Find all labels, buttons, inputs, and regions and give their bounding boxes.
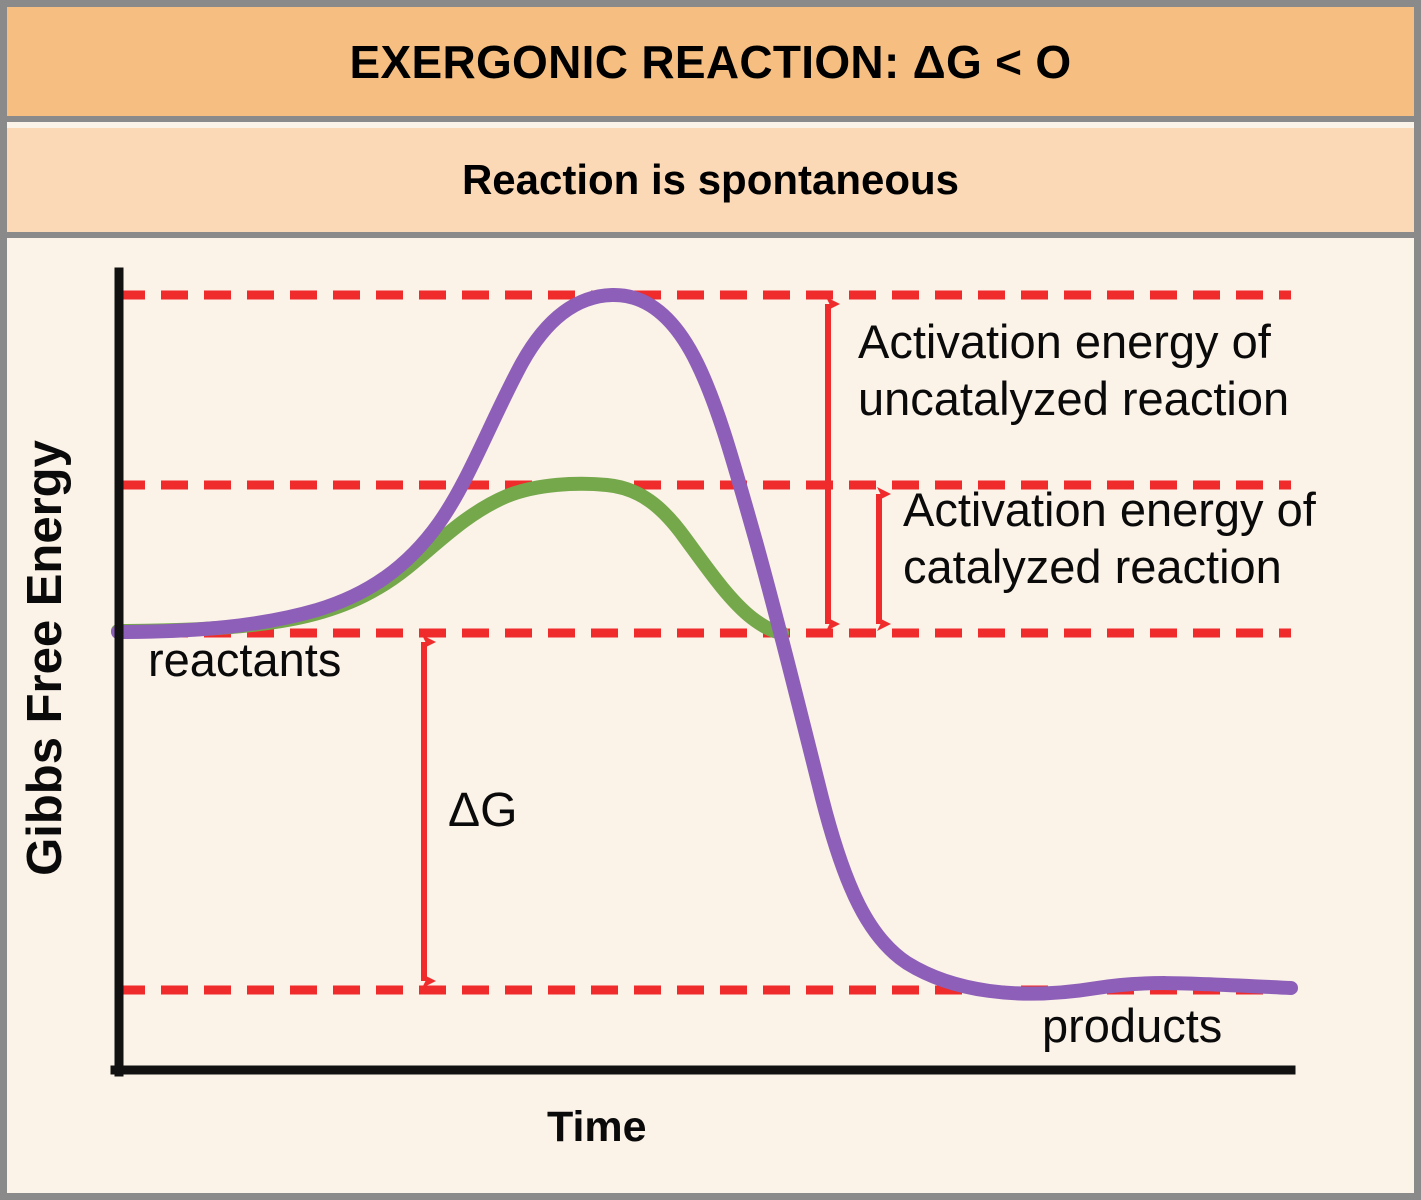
- x-axis-title: Time: [547, 1103, 647, 1152]
- frame-top-border: [0, 0, 1421, 7]
- reactants-label: reactants: [148, 632, 341, 687]
- frame-left-border: [0, 0, 7, 1200]
- frame-right-border: [1414, 0, 1421, 1200]
- annotation-activation-energy-uncatalyzed: Activation energy of uncatalyzed reactio…: [858, 313, 1403, 428]
- delta-g-label: ΔG: [448, 783, 517, 838]
- energy-diagram-plot: Gibbs Free Energy Time reactants product…: [7, 238, 1414, 1193]
- frame-bottom-border: [0, 1193, 1421, 1200]
- title-band: EXERGONIC REACTION: ΔG < O: [7, 7, 1414, 122]
- annotation-activation-energy-catalyzed: Activation energy of catalyzed reaction: [903, 481, 1413, 596]
- page-subtitle: Reaction is spontaneous: [462, 156, 959, 204]
- exergonic-reaction-figure: EXERGONIC REACTION: ΔG < O Reaction is s…: [0, 0, 1421, 1200]
- page-title: EXERGONIC REACTION: ΔG < O: [350, 35, 1072, 89]
- subtitle-band: Reaction is spontaneous: [7, 128, 1414, 238]
- annotation-arrows: [424, 304, 879, 981]
- products-label: products: [1042, 998, 1222, 1053]
- y-axis-title: Gibbs Free Energy: [17, 428, 73, 888]
